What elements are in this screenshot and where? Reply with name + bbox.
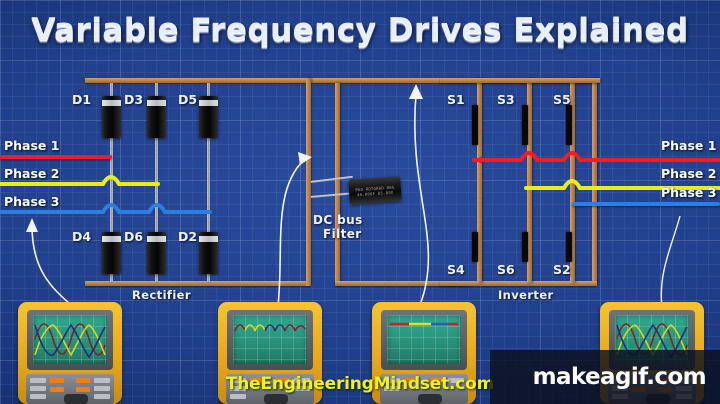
rectifier-section-label: Rectifier — [132, 288, 191, 302]
switch-s1 — [472, 105, 478, 145]
annotation-arrow-scope1 — [10, 218, 80, 306]
scope-key[interactable] — [94, 394, 110, 399]
scope-navpad[interactable] — [418, 394, 442, 404]
output-phase-2-label: Phase 2 — [661, 166, 716, 181]
input-phase-1-label: Phase 1 — [4, 138, 59, 153]
dc-bus-capacitor: PAO ROTGRAD 805 40.000F 85.00X — [348, 176, 402, 205]
switch-s6 — [522, 232, 528, 262]
diode-d2 — [199, 232, 218, 274]
diode-band-d1 — [102, 100, 121, 106]
diode-band-d4 — [102, 236, 121, 242]
annotation-arrow-scope4 — [600, 212, 690, 310]
inverter-section-label: Inverter — [498, 288, 554, 302]
scope-key[interactable] — [30, 394, 46, 399]
input-phase-3-wire — [0, 198, 215, 220]
output-phase-1-label: Phase 1 — [661, 138, 716, 153]
input-phase-1-wire — [0, 155, 112, 159]
switch-s2 — [566, 232, 572, 262]
inverter-top-rail-segment — [440, 78, 600, 83]
diode-band-d2 — [199, 236, 218, 242]
switch-label-s6: S6 — [497, 262, 515, 277]
output-phase-3-label: Phase 3 — [661, 185, 716, 200]
switch-s3 — [522, 105, 528, 145]
switch-label-s3: S3 — [497, 92, 515, 107]
diode-band-d5 — [199, 100, 218, 106]
scope-dc-bus-screen — [387, 315, 461, 364]
scope-key[interactable] — [230, 394, 246, 399]
gif-watermark: makeagif.com — [533, 364, 706, 390]
diode-label-d2: D2 — [178, 229, 197, 244]
scope-input-ac-screen — [33, 315, 107, 364]
diode-d4 — [102, 232, 121, 274]
scope-navpad[interactable] — [64, 394, 88, 404]
dcbus-label-line1: DC bus — [313, 213, 363, 227]
output-phase-3-wire — [572, 202, 720, 206]
diode-d5 — [199, 96, 218, 138]
dcbus-label-line2: Filter — [323, 227, 362, 241]
diode-label-d5: D5 — [178, 92, 197, 107]
diode-d6 — [147, 232, 166, 274]
diode-label-d3: D3 — [124, 92, 143, 107]
annotation-arrow-scope3 — [398, 82, 458, 307]
scope-rectified-screen — [233, 315, 307, 364]
diode-d1 — [102, 96, 121, 138]
switch-label-s5: S5 — [553, 92, 571, 107]
annotation-arrow-scope2 — [250, 150, 320, 308]
diode-band-d6 — [147, 236, 166, 242]
page-title: Variable Frequency Drives Explained — [0, 12, 720, 48]
scope-navpad[interactable] — [264, 394, 288, 404]
diode-label-d1: D1 — [72, 92, 91, 107]
switch-s5 — [566, 105, 572, 145]
vfd-diagram-canvas: Variable Frequency Drives Explained D1 D… — [0, 0, 720, 404]
switch-s4 — [472, 232, 478, 262]
diode-label-d6: D6 — [124, 229, 143, 244]
diode-d3 — [147, 96, 166, 138]
input-phase-2-wire — [0, 170, 160, 192]
diode-band-d3 — [147, 100, 166, 106]
switch-label-s2: S2 — [553, 262, 571, 277]
